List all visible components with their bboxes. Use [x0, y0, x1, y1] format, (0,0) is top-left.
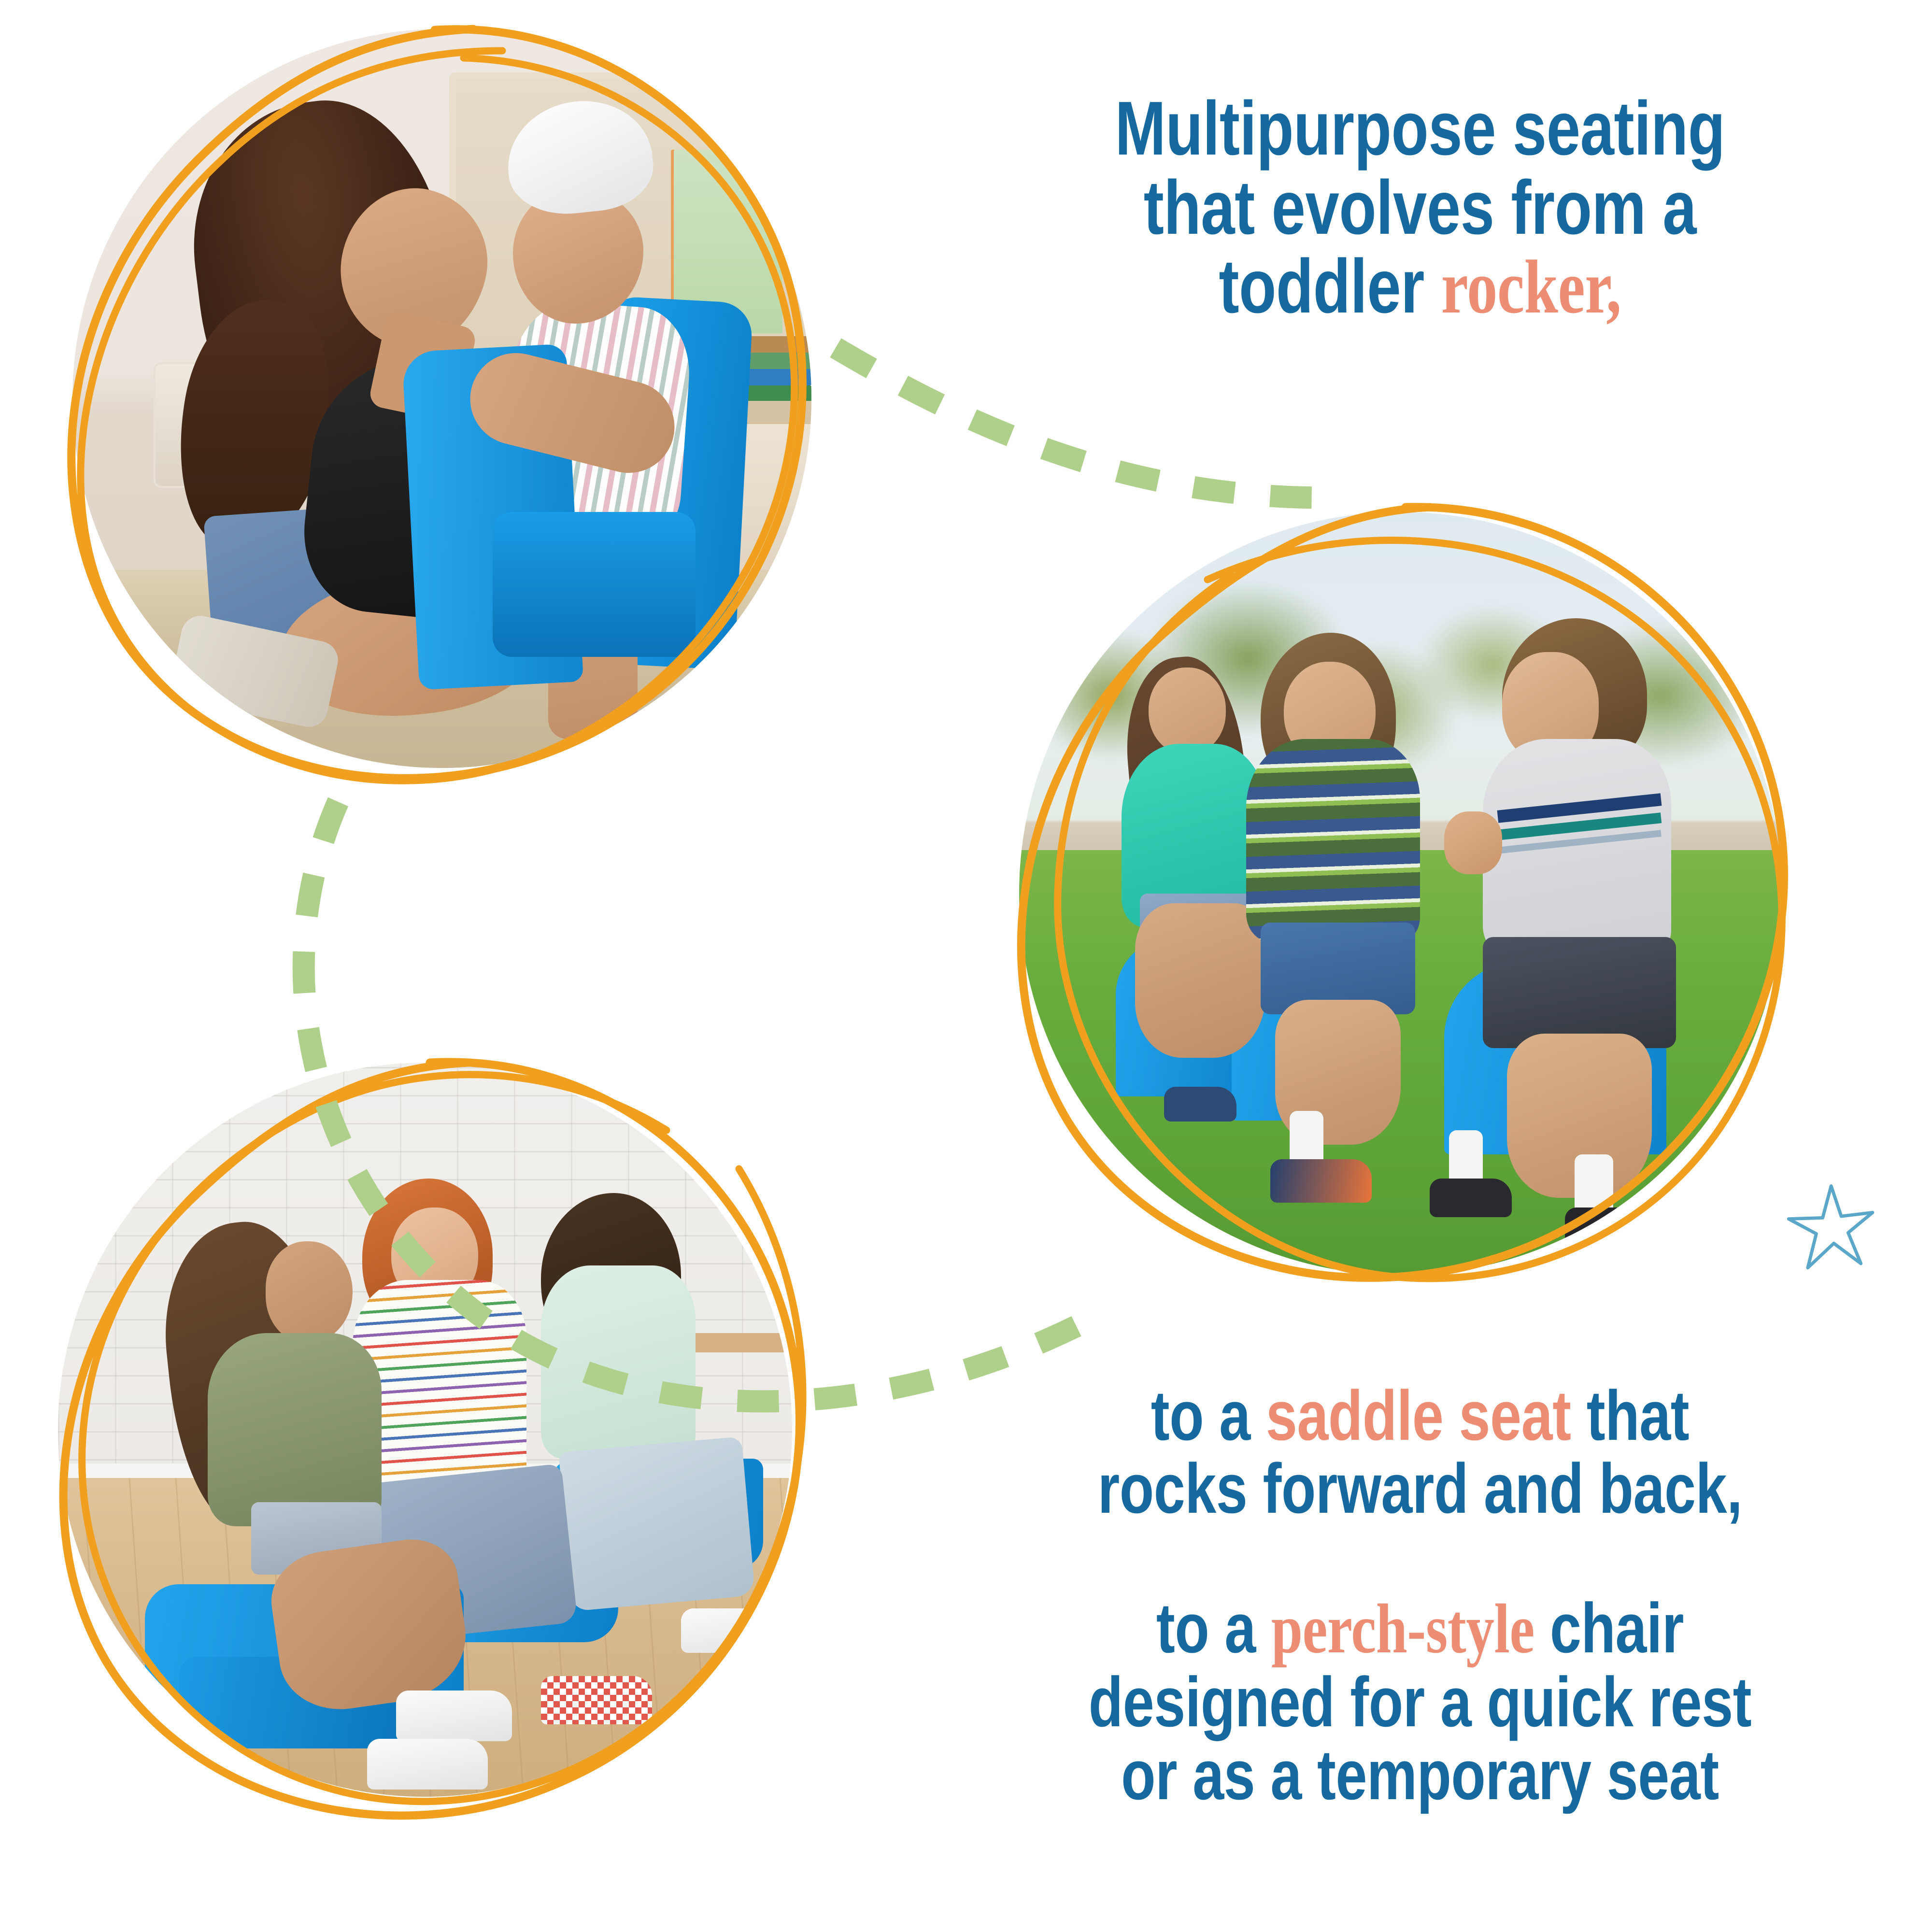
headline-middle-line2: rocks forward and back, — [1057, 1452, 1783, 1525]
headline-bottom: to a perch-style chair designed for a qu… — [947, 1591, 1893, 1811]
headline-middle-accent-saddle-seat: saddle seat — [1266, 1376, 1571, 1455]
headline-middle-line1-post: that — [1571, 1376, 1690, 1455]
headline-bottom-line1: to a perch-style chair — [1041, 1591, 1799, 1665]
headline-middle: to a saddle seat that rocks forward and … — [966, 1379, 1874, 1525]
star-decoration — [1782, 1179, 1889, 1287]
headline-top: Multipurpose seating that evolves from a… — [985, 89, 1855, 327]
headline-bottom-line2: designed for a quick rest — [1041, 1665, 1799, 1738]
headline-top-line3-plain: toddler — [1219, 244, 1441, 329]
photo-indoor-three-kids — [58, 1063, 792, 1797]
headline-top-line2: that evolves from a — [1072, 169, 1768, 248]
headline-bottom-accent-perch-style: perch-style — [1271, 1590, 1534, 1668]
headline-top-line3: toddler rocker, — [1072, 247, 1768, 327]
headline-top-accent-rocker: rocker, — [1441, 245, 1621, 329]
headline-bottom-line1-pre: to a — [1156, 1589, 1271, 1667]
headline-bottom-line3: or as a temporary seat — [1041, 1738, 1799, 1811]
headline-top-line1: Multipurpose seating — [1072, 89, 1768, 169]
headline-middle-line1-pre: to a — [1151, 1376, 1266, 1455]
photo-mom-and-baby — [72, 29, 811, 768]
photo-outdoor-three-kids — [1019, 512, 1782, 1275]
headline-middle-line1: to a saddle seat that — [1057, 1379, 1783, 1452]
star-icon — [1782, 1179, 1889, 1285]
infographic-canvas: Multipurpose seating that evolves from a… — [0, 0, 1932, 1932]
headline-bottom-line1-post: chair — [1534, 1589, 1684, 1667]
